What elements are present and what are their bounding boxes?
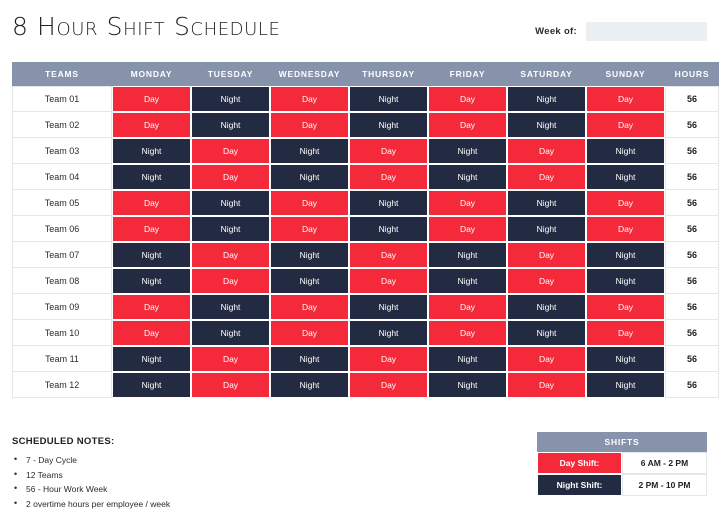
schedule-table-head: TEAMS MONDAY TUESDAY WEDNESDAY THURSDAY … [12, 62, 719, 86]
shift-cell-day[interactable]: Day [191, 164, 270, 190]
hours-cell: 56 [665, 346, 719, 372]
table-row: Team 12NightDayNightDayNightDayNight56 [12, 372, 719, 398]
shift-cell-day[interactable]: Day [349, 372, 428, 398]
shift-cell-night[interactable]: Night [586, 164, 665, 190]
shift-cell-day[interactable]: Day [349, 138, 428, 164]
shift-cell-night[interactable]: Night [270, 372, 349, 398]
shift-cell-day[interactable]: Day [270, 86, 349, 112]
shift-cell-night[interactable]: Night [507, 320, 586, 346]
table-row: Team 04NightDayNightDayNightDayNight56 [12, 164, 719, 190]
shift-cell-night[interactable]: Night [507, 294, 586, 320]
schedule-table-body: Team 01DayNightDayNightDayNightDay56Team… [12, 86, 719, 398]
shift-cell-night[interactable]: Night [349, 216, 428, 242]
shift-legend-time-day: 6 AM - 2 PM [622, 452, 707, 474]
shift-cell-day[interactable]: Day [349, 242, 428, 268]
team-name-cell: Team 11 [12, 346, 112, 372]
shift-cell-day[interactable]: Day [507, 268, 586, 294]
shift-cell-day[interactable]: Day [507, 346, 586, 372]
shift-cell-night[interactable]: Night [112, 346, 191, 372]
shifts-legend-head: SHIFTS [537, 432, 707, 452]
shift-cell-night[interactable]: Night [349, 86, 428, 112]
shift-cell-night[interactable]: Night [586, 346, 665, 372]
shifts-legend-header-row: SHIFTS [537, 432, 707, 452]
shift-schedule-page: 8 Hour Shift Schedule Week of: TEAMS MON… [0, 0, 720, 509]
shift-cell-night[interactable]: Night [428, 164, 507, 190]
shifts-legend-row: Night Shift:2 PM - 10 PM [537, 474, 707, 496]
table-row: Team 11NightDayNightDayNightDayNight56 [12, 346, 719, 372]
table-row: Team 08NightDayNightDayNightDayNight56 [12, 268, 719, 294]
shifts-legend-title: SHIFTS [537, 432, 707, 452]
note-item: 2 overtime hours per employee / week [12, 499, 352, 509]
shift-cell-day[interactable]: Day [428, 294, 507, 320]
shift-cell-day[interactable]: Day [507, 164, 586, 190]
shift-cell-day[interactable]: Day [349, 164, 428, 190]
shift-cell-night[interactable]: Night [428, 242, 507, 268]
shift-cell-night[interactable]: Night [507, 112, 586, 138]
shift-cell-day[interactable]: Day [270, 112, 349, 138]
shift-legend-label-day: Day Shift: [537, 452, 622, 474]
note-item: 12 Teams [12, 470, 352, 481]
table-row: Team 10DayNightDayNightDayNightDay56 [12, 320, 719, 346]
shift-cell-night[interactable]: Night [586, 268, 665, 294]
shift-cell-night[interactable]: Night [349, 190, 428, 216]
shift-cell-day[interactable]: Day [349, 346, 428, 372]
shift-cell-day[interactable]: Day [112, 320, 191, 346]
shift-cell-night[interactable]: Night [191, 112, 270, 138]
shift-cell-day[interactable]: Day [428, 112, 507, 138]
table-row: Team 03NightDayNightDayNightDayNight56 [12, 138, 719, 164]
shift-cell-night[interactable]: Night [191, 294, 270, 320]
shift-cell-night[interactable]: Night [112, 372, 191, 398]
shift-cell-night[interactable]: Night [112, 268, 191, 294]
shift-cell-night[interactable]: Night [191, 216, 270, 242]
week-of-label: Week of: [535, 26, 577, 37]
shift-cell-day[interactable]: Day [586, 294, 665, 320]
column-header-monday: MONDAY [112, 62, 191, 86]
shift-cell-day[interactable]: Day [112, 190, 191, 216]
column-header-tuesday: TUESDAY [191, 62, 270, 86]
team-name-cell: Team 03 [12, 138, 112, 164]
shift-cell-day[interactable]: Day [112, 112, 191, 138]
shift-cell-night[interactable]: Night [112, 242, 191, 268]
shift-cell-night[interactable]: Night [428, 268, 507, 294]
team-name-cell: Team 10 [12, 320, 112, 346]
hours-cell: 56 [665, 138, 719, 164]
shift-cell-day[interactable]: Day [191, 242, 270, 268]
hours-cell: 56 [665, 242, 719, 268]
hours-cell: 56 [665, 164, 719, 190]
table-row: Team 09DayNightDayNightDayNightDay56 [12, 294, 719, 320]
hours-cell: 56 [665, 86, 719, 112]
week-of-input[interactable] [586, 22, 707, 41]
team-name-cell: Team 02 [12, 112, 112, 138]
shift-cell-night[interactable]: Night [270, 138, 349, 164]
shift-cell-night[interactable]: Night [270, 242, 349, 268]
shift-cell-day[interactable]: Day [586, 86, 665, 112]
shift-cell-day[interactable]: Day [586, 112, 665, 138]
schedule-header-row: TEAMS MONDAY TUESDAY WEDNESDAY THURSDAY … [12, 62, 719, 86]
shift-cell-day[interactable]: Day [586, 216, 665, 242]
team-name-cell: Team 05 [12, 190, 112, 216]
shift-cell-day[interactable]: Day [507, 242, 586, 268]
column-header-wednesday: WEDNESDAY [270, 62, 349, 86]
shift-cell-day[interactable]: Day [112, 86, 191, 112]
note-item: 7 - Day Cycle [12, 455, 352, 466]
shift-cell-night[interactable]: Night [428, 372, 507, 398]
table-row: Team 01DayNightDayNightDayNightDay56 [12, 86, 719, 112]
shift-cell-day[interactable]: Day [191, 346, 270, 372]
shift-cell-night[interactable]: Night [191, 190, 270, 216]
shift-cell-night[interactable]: Night [586, 138, 665, 164]
shift-cell-night[interactable]: Night [428, 138, 507, 164]
shift-cell-night[interactable]: Night [507, 216, 586, 242]
hours-cell: 56 [665, 112, 719, 138]
table-row: Team 02DayNightDayNightDayNightDay56 [12, 112, 719, 138]
shift-cell-day[interactable]: Day [112, 216, 191, 242]
shift-cell-day[interactable]: Day [191, 268, 270, 294]
schedule-table: TEAMS MONDAY TUESDAY WEDNESDAY THURSDAY … [12, 62, 719, 398]
hours-cell: 56 [665, 190, 719, 216]
column-header-teams: TEAMS [12, 62, 112, 86]
shift-cell-day[interactable]: Day [428, 86, 507, 112]
column-header-thursday: THURSDAY [349, 62, 428, 86]
shift-cell-day[interactable]: Day [270, 216, 349, 242]
team-name-cell: Team 07 [12, 242, 112, 268]
shift-legend-time-night: 2 PM - 10 PM [622, 474, 707, 496]
shifts-legend: SHIFTS Day Shift:6 AM - 2 PMNight Shift:… [537, 432, 707, 496]
shift-cell-day[interactable]: Day [507, 138, 586, 164]
shift-cell-day[interactable]: Day [191, 372, 270, 398]
shift-cell-day[interactable]: Day [112, 294, 191, 320]
shift-cell-night[interactable]: Night [349, 294, 428, 320]
shift-cell-day[interactable]: Day [428, 216, 507, 242]
shift-cell-day[interactable]: Day [428, 320, 507, 346]
shift-cell-night[interactable]: Night [191, 86, 270, 112]
shift-cell-night[interactable]: Night [349, 112, 428, 138]
shift-cell-night[interactable]: Night [586, 372, 665, 398]
shift-cell-night[interactable]: Night [507, 86, 586, 112]
shift-cell-night[interactable]: Night [349, 320, 428, 346]
shift-cell-day[interactable]: Day [270, 294, 349, 320]
hours-cell: 56 [665, 320, 719, 346]
title-row: 8 Hour Shift Schedule Week of: [0, 12, 720, 56]
shift-cell-night[interactable]: Night [270, 268, 349, 294]
notes-list: 7 - Day Cycle12 Teams56 - Hour Work Week… [12, 455, 352, 509]
column-header-sunday: SUNDAY [586, 62, 665, 86]
notes-title: SCHEDULED NOTES: [12, 436, 352, 447]
team-name-cell: Team 01 [12, 86, 112, 112]
shift-cell-day[interactable]: Day [191, 138, 270, 164]
team-name-cell: Team 12 [12, 372, 112, 398]
page-title: 8 Hour Shift Schedule [12, 12, 281, 41]
table-row: Team 07NightDayNightDayNightDayNight56 [12, 242, 719, 268]
shift-cell-day[interactable]: Day [586, 320, 665, 346]
column-header-hours: HOURS [665, 62, 719, 86]
shift-cell-day[interactable]: Day [586, 190, 665, 216]
shift-cell-night[interactable]: Night [428, 346, 507, 372]
shift-cell-night[interactable]: Night [112, 138, 191, 164]
column-header-friday: FRIDAY [428, 62, 507, 86]
shift-cell-night[interactable]: Night [507, 190, 586, 216]
hours-cell: 56 [665, 216, 719, 242]
note-item: 56 - Hour Work Week [12, 484, 352, 495]
shift-cell-day[interactable]: Day [270, 320, 349, 346]
shifts-legend-row: Day Shift:6 AM - 2 PM [537, 452, 707, 474]
team-name-cell: Team 08 [12, 268, 112, 294]
shift-cell-night[interactable]: Night [191, 320, 270, 346]
column-header-saturday: SATURDAY [507, 62, 586, 86]
shift-legend-label-night: Night Shift: [537, 474, 622, 496]
team-name-cell: Team 06 [12, 216, 112, 242]
team-name-cell: Team 04 [12, 164, 112, 190]
shift-cell-night[interactable]: Night [270, 164, 349, 190]
scheduled-notes: SCHEDULED NOTES: 7 - Day Cycle12 Teams56… [12, 436, 352, 509]
table-row: Team 06DayNightDayNightDayNightDay56 [12, 216, 719, 242]
hours-cell: 56 [665, 294, 719, 320]
shift-cell-day[interactable]: Day [507, 372, 586, 398]
table-row: Team 05DayNightDayNightDayNightDay56 [12, 190, 719, 216]
shifts-legend-body: Day Shift:6 AM - 2 PMNight Shift:2 PM - … [537, 452, 707, 496]
shift-cell-day[interactable]: Day [270, 190, 349, 216]
week-of-group: Week of: [535, 22, 707, 41]
shift-cell-night[interactable]: Night [112, 164, 191, 190]
shift-cell-day[interactable]: Day [349, 268, 428, 294]
hours-cell: 56 [665, 268, 719, 294]
hours-cell: 56 [665, 372, 719, 398]
shift-cell-night[interactable]: Night [270, 346, 349, 372]
team-name-cell: Team 09 [12, 294, 112, 320]
shift-cell-night[interactable]: Night [586, 242, 665, 268]
shift-cell-day[interactable]: Day [428, 190, 507, 216]
